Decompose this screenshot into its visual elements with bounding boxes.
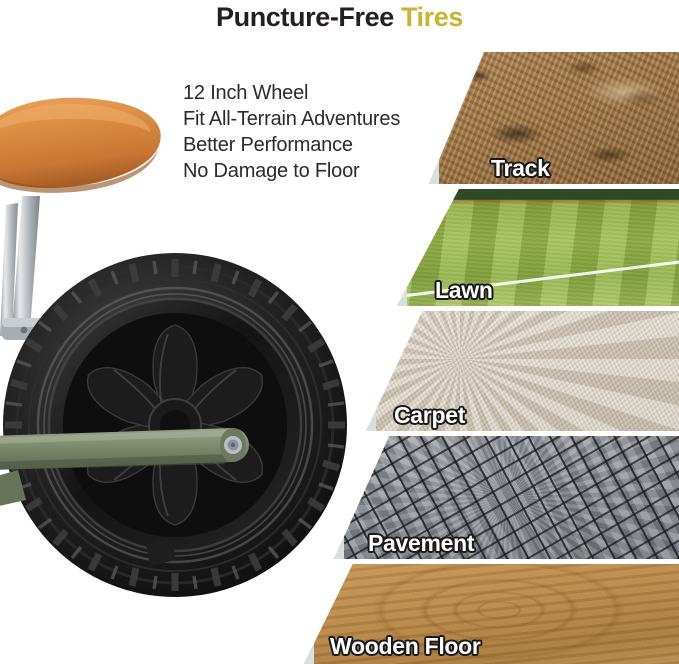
terrain-panel-wooden-floor[interactable]: Wooden Floor: [304, 564, 679, 664]
terrain-panel-track[interactable]: Track: [429, 52, 679, 184]
product-feature-image: Puncture-Free Tires 12 Inch Wheel Fit Al…: [0, 0, 679, 664]
bike-rim: [49, 299, 301, 551]
terrain-panel-stack: Track Lawn Carpet Pavement Wooden Floor: [349, 0, 679, 664]
terrain-panel-lawn[interactable]: Lawn: [397, 189, 679, 306]
seat-post: [0, 196, 46, 340]
balance-bike-illustration: [0, 0, 400, 664]
bike-saddle: [0, 98, 161, 193]
terrain-panel-pavement[interactable]: Pavement: [334, 436, 679, 559]
panel-edge-strip: [429, 52, 439, 184]
terrain-label-wooden-floor: Wooden Floor: [330, 633, 481, 660]
terrain-label-lawn: Lawn: [435, 277, 493, 304]
terrain-label-track: Track: [491, 155, 550, 182]
terrain-label-carpet: Carpet: [394, 402, 465, 429]
panel-edge-strip: [397, 189, 407, 306]
terrain-panel-carpet[interactable]: Carpet: [366, 311, 679, 431]
track-texture-image: [429, 52, 679, 184]
terrain-label-pavement: Pavement: [368, 530, 474, 557]
panel-edge-strip: [366, 311, 376, 431]
